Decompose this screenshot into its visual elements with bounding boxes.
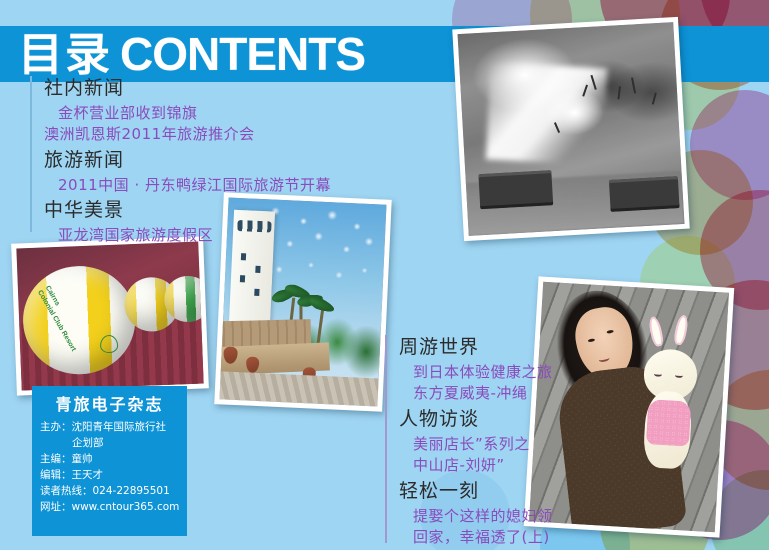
magazine-title: 青旅电子杂志 xyxy=(32,386,187,414)
info-line-website[interactable]: 网址：www.cntour365.com xyxy=(40,500,187,516)
page-title: 目录 CONTENTS xyxy=(18,24,365,84)
bw-war-photo[interactable] xyxy=(452,17,689,241)
toc-section: 旅游新闻 2011中国 · 丹东鸭绿江国际旅游节开幕 xyxy=(44,146,380,196)
magazine-info-box: 青旅电子杂志 主办：沈阳青年国际旅行社 企划部 主编：童帅 编辑：王天才 读者热… xyxy=(32,386,187,536)
tower-window xyxy=(254,289,259,296)
tower-window xyxy=(255,266,260,273)
toc-section-heading: 周游世界 xyxy=(399,333,635,362)
toc-right-divider xyxy=(385,335,387,543)
magazine-info-lines: 主办：沈阳青年国际旅行社 企划部 主编：童帅 编辑：王天才 读者热线：024-2… xyxy=(32,414,187,516)
bunny-eye xyxy=(654,371,662,376)
bubble-icon xyxy=(690,90,769,200)
tower-window xyxy=(240,275,245,282)
toc-item[interactable]: 美丽店长”系列之 xyxy=(399,434,635,456)
toc-item[interactable]: 金杯营业部收到锦旗 xyxy=(44,103,380,125)
toc-left-divider xyxy=(30,76,32,232)
toc-item[interactable]: 亚龙湾国家旅游度假区 xyxy=(44,225,380,247)
page-title-en: CONTENTS xyxy=(120,31,365,77)
butterfly-logo-icon xyxy=(100,335,119,354)
page-title-cn: 目录 xyxy=(18,32,112,77)
toc-right: 周游世界 到日本体验健康之旅 东方夏威夷-冲绳 人物访谈 美丽店长”系列之 中山… xyxy=(385,333,635,550)
toc-item[interactable]: 澳洲凯恩斯2011年旅游推介会 xyxy=(44,124,380,146)
beach-balls-photo[interactable]: Cairns Colonial Club Resort xyxy=(11,236,209,395)
magazine-contents-page: 目录 CONTENTS 社内新闻 金杯营业部收到锦旗 澳洲凯恩斯2011年旅游推… xyxy=(0,0,769,550)
info-line: 编辑：王天才 xyxy=(40,468,187,484)
toc-section-heading: 轻松一刻 xyxy=(399,477,635,506)
bw-flame-plume xyxy=(486,63,607,166)
bunny-eye xyxy=(675,372,683,377)
toc-section: 社内新闻 金杯营业部收到锦旗 澳洲凯恩斯2011年旅游推介会 xyxy=(44,74,380,146)
bw-tank xyxy=(608,176,679,212)
toc-section-heading: 人物访谈 xyxy=(399,405,635,434)
beach-balls-photo-inner: Cairns Colonial Club Resort xyxy=(16,242,203,391)
info-line: 企划部 xyxy=(40,436,187,452)
toc-item[interactable]: 中山店-刘妍” xyxy=(399,455,635,477)
toc-item[interactable]: 回家，幸福透了(上) xyxy=(399,527,635,549)
toc-section: 中华美景 亚龙湾国家旅游度假区 xyxy=(44,196,380,246)
toc-item[interactable]: 提娶个这样的媳妇领 xyxy=(399,506,635,528)
ball-brand-text: Cairns Colonial Club Resort xyxy=(16,284,80,373)
info-line: 读者热线：024-22895501 xyxy=(40,484,187,500)
bunny-dress xyxy=(645,399,691,446)
toc-item[interactable]: 到日本体验健康之旅 xyxy=(399,362,635,384)
pavement xyxy=(219,371,378,406)
toc-section-heading: 旅游新闻 xyxy=(44,146,380,175)
tower-window xyxy=(241,253,246,260)
plush-bunny xyxy=(629,321,712,474)
bw-war-photo-inner xyxy=(458,22,685,236)
info-line: 主办：沈阳青年国际旅行社 xyxy=(40,420,187,436)
toc-item[interactable]: 东方夏威夷-冲绳 xyxy=(399,383,635,405)
toc-section-heading: 中华美景 xyxy=(44,196,380,225)
toc-section: 人物访谈 美丽店长”系列之 中山店-刘妍” xyxy=(399,405,635,477)
toc-left: 社内新闻 金杯营业部收到锦旗 澳洲凯恩斯2011年旅游推介会 旅游新闻 2011… xyxy=(30,74,380,247)
toc-section: 周游世界 到日本体验健康之旅 东方夏威夷-冲绳 xyxy=(399,333,635,405)
bw-tank xyxy=(478,171,553,209)
toc-item[interactable]: 2011中国 · 丹东鸭绿江国际旅游节开幕 xyxy=(44,175,380,197)
toc-section: 轻松一刻 提娶个这样的媳妇领 回家，幸福透了(上) xyxy=(399,477,635,549)
info-line: 主编：童帅 xyxy=(40,452,187,468)
